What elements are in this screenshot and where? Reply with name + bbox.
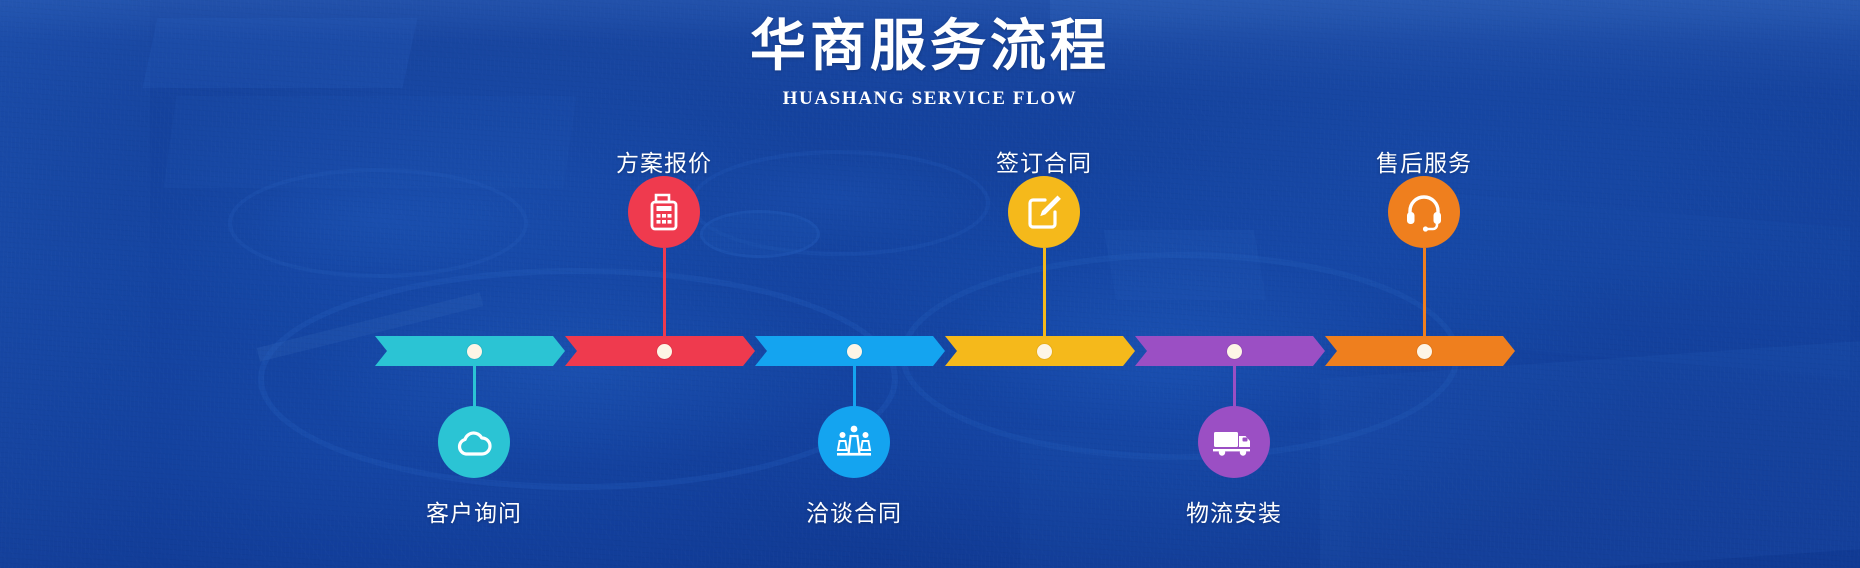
flow-node-dot-1 <box>467 344 482 359</box>
flow-icon-bubble-2[interactable] <box>628 176 700 248</box>
flow-label-3: 洽谈合同 <box>806 494 902 528</box>
flow-label-4: 签订合同 <box>996 144 1092 178</box>
flow-label-5: 物流安装 <box>1186 494 1282 528</box>
flow-node-dot-6 <box>1417 344 1432 359</box>
calculator-icon <box>647 192 681 232</box>
meeting-icon <box>834 424 874 460</box>
flow-label-6: 售后服务 <box>1376 144 1472 178</box>
flow-icon-bubble-5[interactable] <box>1198 406 1270 478</box>
page-title: 华商服务流程 <box>0 12 1860 82</box>
flow-stem-2 <box>663 248 666 352</box>
flow-icon-bubble-4[interactable] <box>1008 176 1080 248</box>
flow-icon-bubble-1[interactable] <box>438 406 510 478</box>
page-subtitle: HUASHANG SERVICE FLOW <box>0 88 1860 110</box>
flow-node-dot-5 <box>1227 344 1242 359</box>
truck-icon <box>1212 426 1256 458</box>
flow-stem-6 <box>1423 248 1426 352</box>
flow-stem-4 <box>1043 248 1046 352</box>
flow-node-dot-2 <box>657 344 672 359</box>
cloud-icon <box>454 426 494 458</box>
flow-icon-bubble-6[interactable] <box>1388 176 1460 248</box>
service-flow-diagram: 客户询问 方案报价 <box>0 0 1860 568</box>
headset-icon <box>1404 192 1444 232</box>
flow-label-2: 方案报价 <box>616 144 712 178</box>
flow-label-1: 客户询问 <box>426 494 522 528</box>
sign-pen-icon <box>1024 192 1064 232</box>
flow-node-dot-3 <box>847 344 862 359</box>
flow-icon-bubble-3[interactable] <box>818 406 890 478</box>
flow-node-dot-4 <box>1037 344 1052 359</box>
